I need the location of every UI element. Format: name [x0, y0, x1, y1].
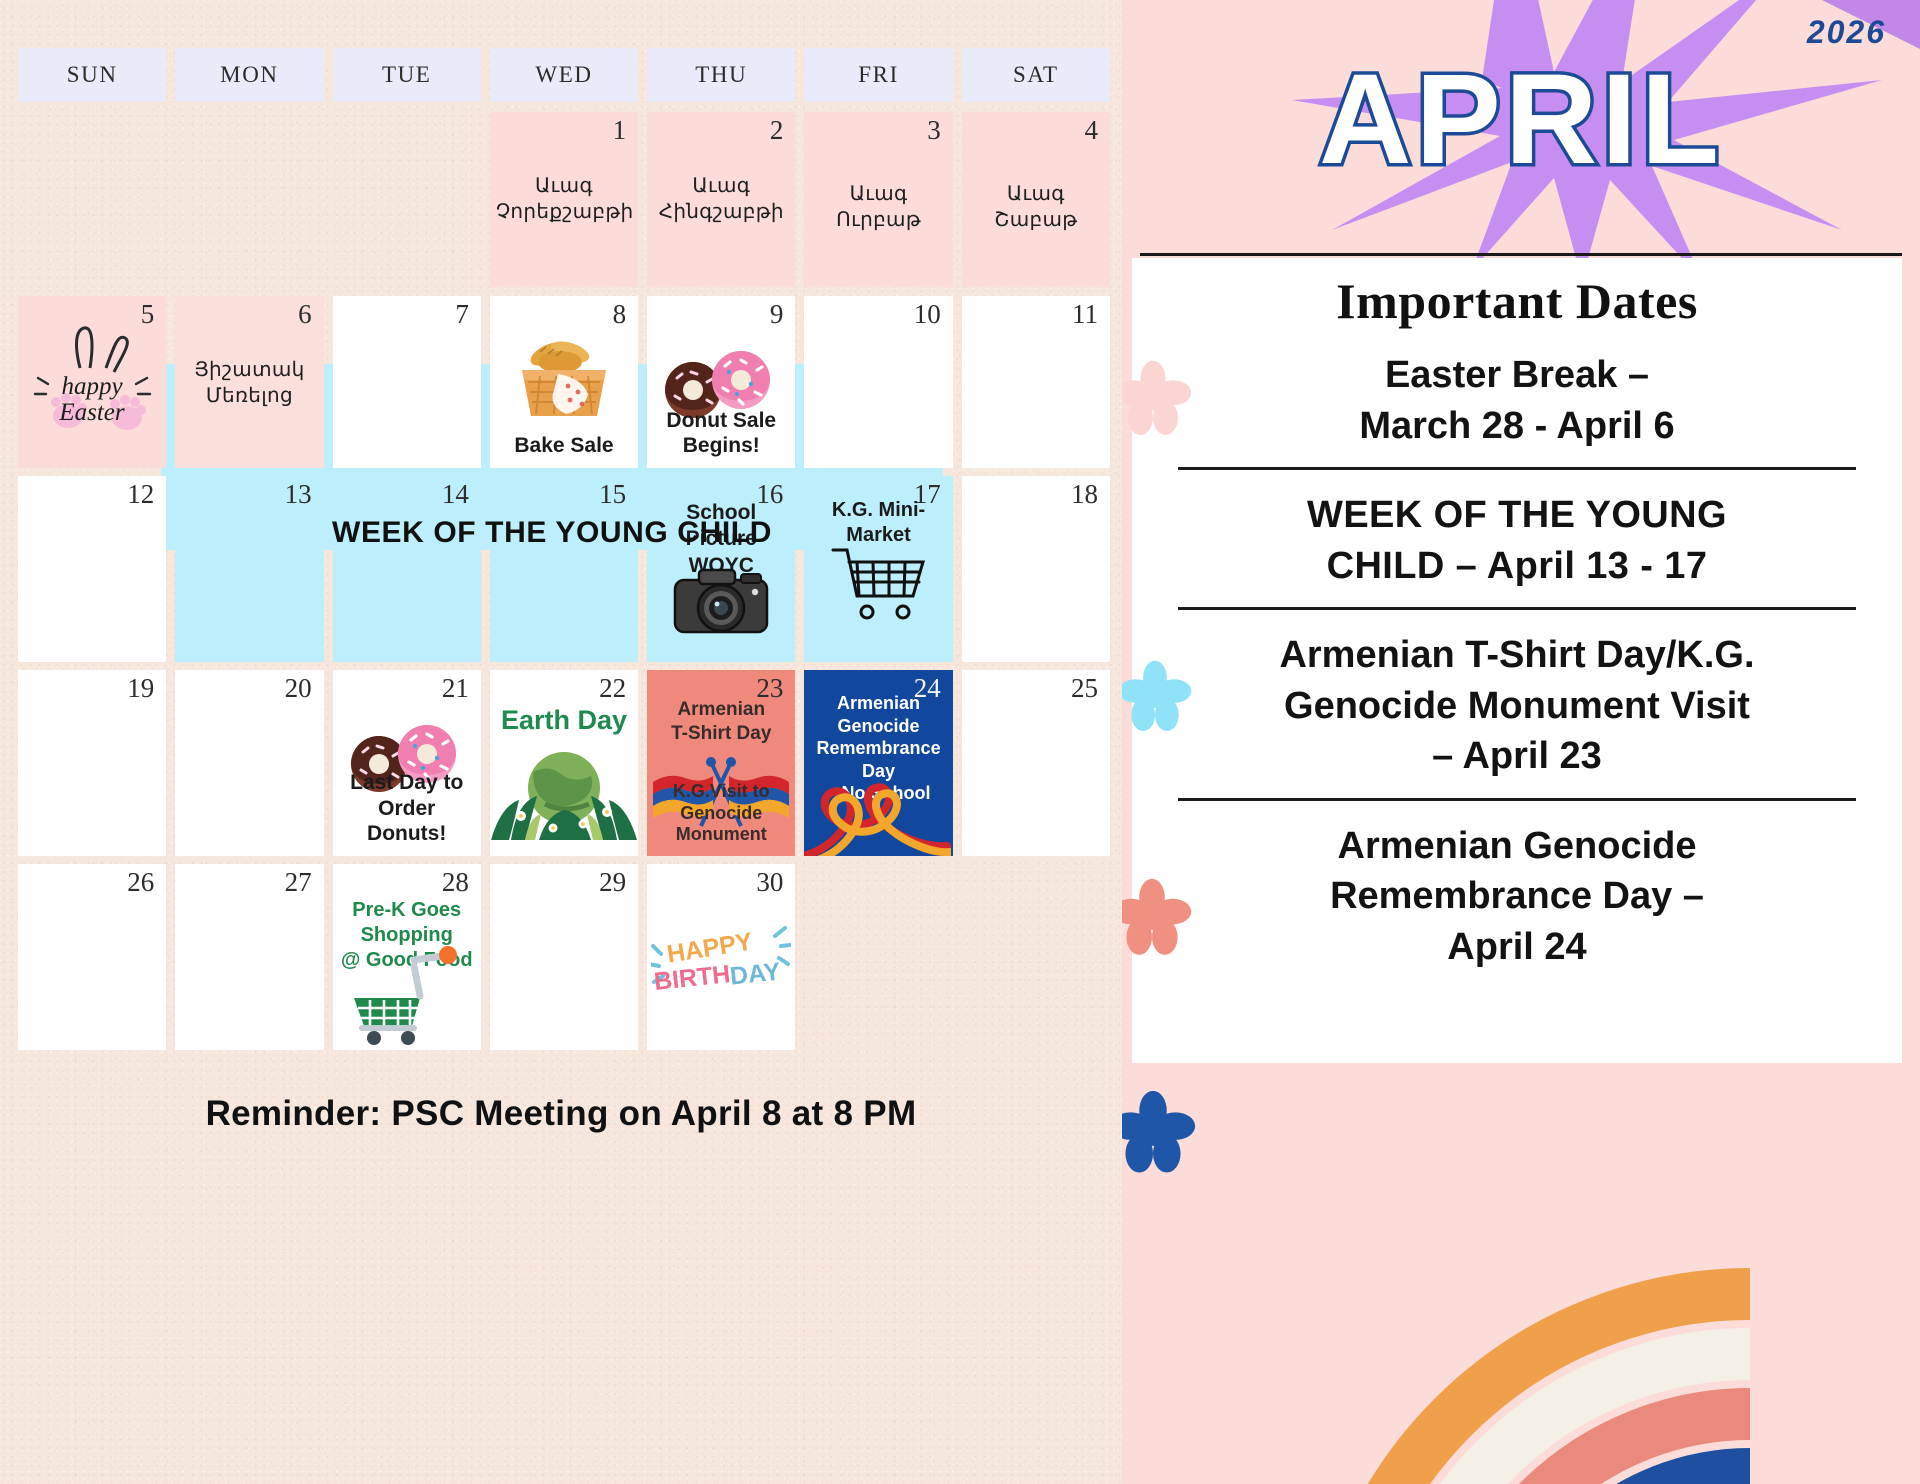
right-info-panel: 2026 APRIL Important Dates Easter Break … [1122, 0, 1920, 1484]
day-number: 4 [1084, 116, 1098, 146]
day-cell-4: 4Աւագ Շաբաթ [962, 112, 1110, 287]
svg-text:DAY: DAY [729, 957, 782, 990]
armenian-holy-day-label: Աւագ Ուրբաթ [810, 182, 946, 233]
week-of-young-child-label: WEEK OF THE YOUNG CHILD [161, 516, 943, 550]
footer-reminder: Reminder: PSC Meeting on April 8 at 8 PM [0, 1094, 1122, 1134]
month-grid: 1ԱւագՉորեքշաբթի2ԱւագՀինգշաբթի3Աւագ Ուրբա… [18, 112, 1110, 1072]
day-number: 10 [914, 300, 941, 330]
weekday-header-fri: FRI [804, 48, 952, 102]
day-cell-empty [962, 864, 1110, 1050]
rainbow-arcs-decoration [1270, 1014, 1920, 1484]
day-cell-11: 11 [962, 296, 1110, 468]
event-label-bottom: K.G.Visit toGenocide Monument [651, 781, 791, 846]
svg-text:happy: happy [62, 373, 124, 400]
event-label-bottom: Bake Sale [494, 433, 634, 458]
day-cell-17: 17K.G. Mini-Market [804, 476, 952, 662]
flower-salmon-icon [1122, 878, 1192, 958]
day-cell-21: 21 [333, 670, 481, 856]
day-number: 30 [756, 868, 783, 898]
bread-basket-icon [508, 332, 620, 420]
armenian-holy-day-label: Աւագ Շաբաթ [968, 182, 1104, 233]
day-number: 1 [613, 116, 627, 146]
day-cell-1: 1ԱւագՉորեքշաբթի [490, 112, 638, 287]
day-cell-empty [18, 112, 166, 287]
day-cell-5: 5 happy Easter [18, 296, 166, 468]
week-row-2: 5 happy Easter [18, 296, 1110, 468]
day-number: 27 [285, 868, 312, 898]
important-dates-heading: Important Dates [1132, 272, 1902, 330]
weekday-header-sun: SUN [18, 48, 166, 102]
day-number: 19 [127, 674, 154, 704]
shopping-cart-green-icon [348, 942, 466, 1046]
earth-plants-icon [490, 732, 638, 840]
day-cell-27: 27 [175, 864, 323, 1050]
day-cell-26: 26 [18, 864, 166, 1050]
heart-ribbon-icon [804, 762, 950, 856]
day-cell-22: 22Earth Day [490, 670, 638, 856]
day-number: 11 [1072, 300, 1098, 330]
weekday-header-sat: SAT [962, 48, 1110, 102]
day-cell-30: 30 HAPPY BIRTH DAY [647, 864, 795, 1050]
week-row-1: 1ԱւագՉորեքշաբթի2ԱւագՀինգշաբթի3Աւագ Ուրբա… [18, 112, 1110, 287]
day-cell-9: 9 [647, 296, 795, 468]
calendar-grid-area: SUNMONTUEWEDTHUFRISAT 1ԱւագՉորեքշաբթի2Աւ… [0, 0, 1122, 1484]
week-row-3: 1213141516School PictureWOYC 17K.G. Mini… [18, 476, 1110, 662]
happy-easter-icon: happy Easter [22, 322, 162, 442]
weekday-header-mon: MON [175, 48, 323, 102]
day-cell-empty [804, 864, 952, 1050]
day-number: 21 [442, 674, 469, 704]
svg-text:BIRTH: BIRTH [653, 960, 732, 996]
day-cell-29: 29 [490, 864, 638, 1050]
weekday-header-row: SUNMONTUEWEDTHUFRISAT [18, 48, 1110, 102]
day-cell-25: 25 [962, 670, 1110, 856]
calendar-page: SUNMONTUEWEDTHUFRISAT 1ԱւագՉորեքշաբթի2Աւ… [0, 0, 1920, 1484]
shopping-cart-icon [827, 540, 931, 624]
day-number: 7 [455, 300, 469, 330]
day-number: 14 [442, 480, 469, 510]
important-dates-list: Easter Break –March 28 - April 6WEEK OF … [1132, 330, 1902, 988]
camera-icon [669, 560, 773, 642]
day-cell-12: 12 [18, 476, 166, 662]
day-cell-16: 16School PictureWOYC [647, 476, 795, 662]
day-cell-19: 19 [18, 670, 166, 856]
day-cell-2: 2ԱւագՀինգշաբթի [647, 112, 795, 287]
day-number: 13 [285, 480, 312, 510]
armenian-holy-day-label: ԱւագՀինգշաբթի [653, 174, 789, 225]
day-cell-8: 8 [490, 296, 638, 468]
important-date-item-4: Armenian GenocideRemembrance Day –April … [1172, 801, 1862, 989]
day-cell-28: 28Pre-K Goes Shopping@ Good Food [333, 864, 481, 1050]
week-row-5: 262728Pre-K Goes Shopping@ Good Food 293… [18, 864, 1110, 1050]
day-cell-13: 13 [175, 476, 323, 662]
day-cell-23: 23ArmenianT-Shirt Day K.G.Visit toGenoci… [647, 670, 795, 856]
weekday-header-wed: WED [490, 48, 638, 102]
day-number: 9 [770, 300, 784, 330]
day-cell-empty [175, 112, 323, 287]
weekday-header-thu: THU [647, 48, 795, 102]
day-number: 2 [770, 116, 784, 146]
important-date-item-2: WEEK OF THE YOUNGCHILD – April 13 - 17 [1172, 470, 1862, 607]
important-date-item-3: Armenian T-Shirt Day/K.G.Genocide Monume… [1172, 610, 1862, 798]
day-number: 15 [599, 480, 626, 510]
title-divider [1140, 253, 1902, 256]
day-number: 28 [442, 868, 469, 898]
day-cell-6: 6ՅիշատակՄեռելոց [175, 296, 323, 468]
day-cell-20: 20 [175, 670, 323, 856]
important-dates-card: Important Dates Easter Break –March 28 -… [1132, 258, 1902, 1063]
day-number: 3 [927, 116, 941, 146]
day-cell-18: 18 [962, 476, 1110, 662]
day-cell-3: 3Աւագ Ուրբաթ [804, 112, 952, 287]
svg-text:Easter: Easter [59, 399, 126, 426]
event-label-bottom: Donut SaleBegins! [651, 408, 791, 458]
flower-navy-icon [1122, 1090, 1196, 1176]
day-cell-10: 10 [804, 296, 952, 468]
day-number: 25 [1071, 674, 1098, 704]
day-number: 6 [298, 300, 312, 330]
flower-cyan-icon [1122, 660, 1192, 734]
day-cell-empty [333, 112, 481, 287]
day-number: 12 [127, 480, 154, 510]
day-number: 29 [599, 868, 626, 898]
day-number: 8 [613, 300, 627, 330]
day-cell-14: 14 [333, 476, 481, 662]
armenian-holy-day-label: ԱւագՉորեքշաբթի [496, 174, 632, 225]
day-number: 18 [1071, 480, 1098, 510]
day-cell-24: 24ArmenianGenocideRemembrance Day– No Sc… [804, 670, 952, 856]
day-number: 26 [127, 868, 154, 898]
event-label-top: ArmenianT-Shirt Day [651, 698, 791, 746]
day-number: 20 [285, 674, 312, 704]
armenian-holy-day-label: ՅիշատակՄեռելոց [181, 358, 317, 409]
weekday-header-tue: TUE [333, 48, 481, 102]
event-label-bottom: Last Day toOrder Donuts! [337, 770, 477, 846]
day-cell-7: 7 [333, 296, 481, 468]
day-cell-15: 15 [490, 476, 638, 662]
day-number: 22 [599, 674, 626, 704]
month-title: APRIL [1122, 46, 1920, 193]
important-date-item-1: Easter Break –March 28 - April 6 [1172, 330, 1862, 467]
happy-birthday-icon: HAPPY BIRTH DAY [651, 912, 791, 1004]
week-row-4: 192021 [18, 670, 1110, 856]
flower-pink-pale-icon [1122, 360, 1192, 438]
